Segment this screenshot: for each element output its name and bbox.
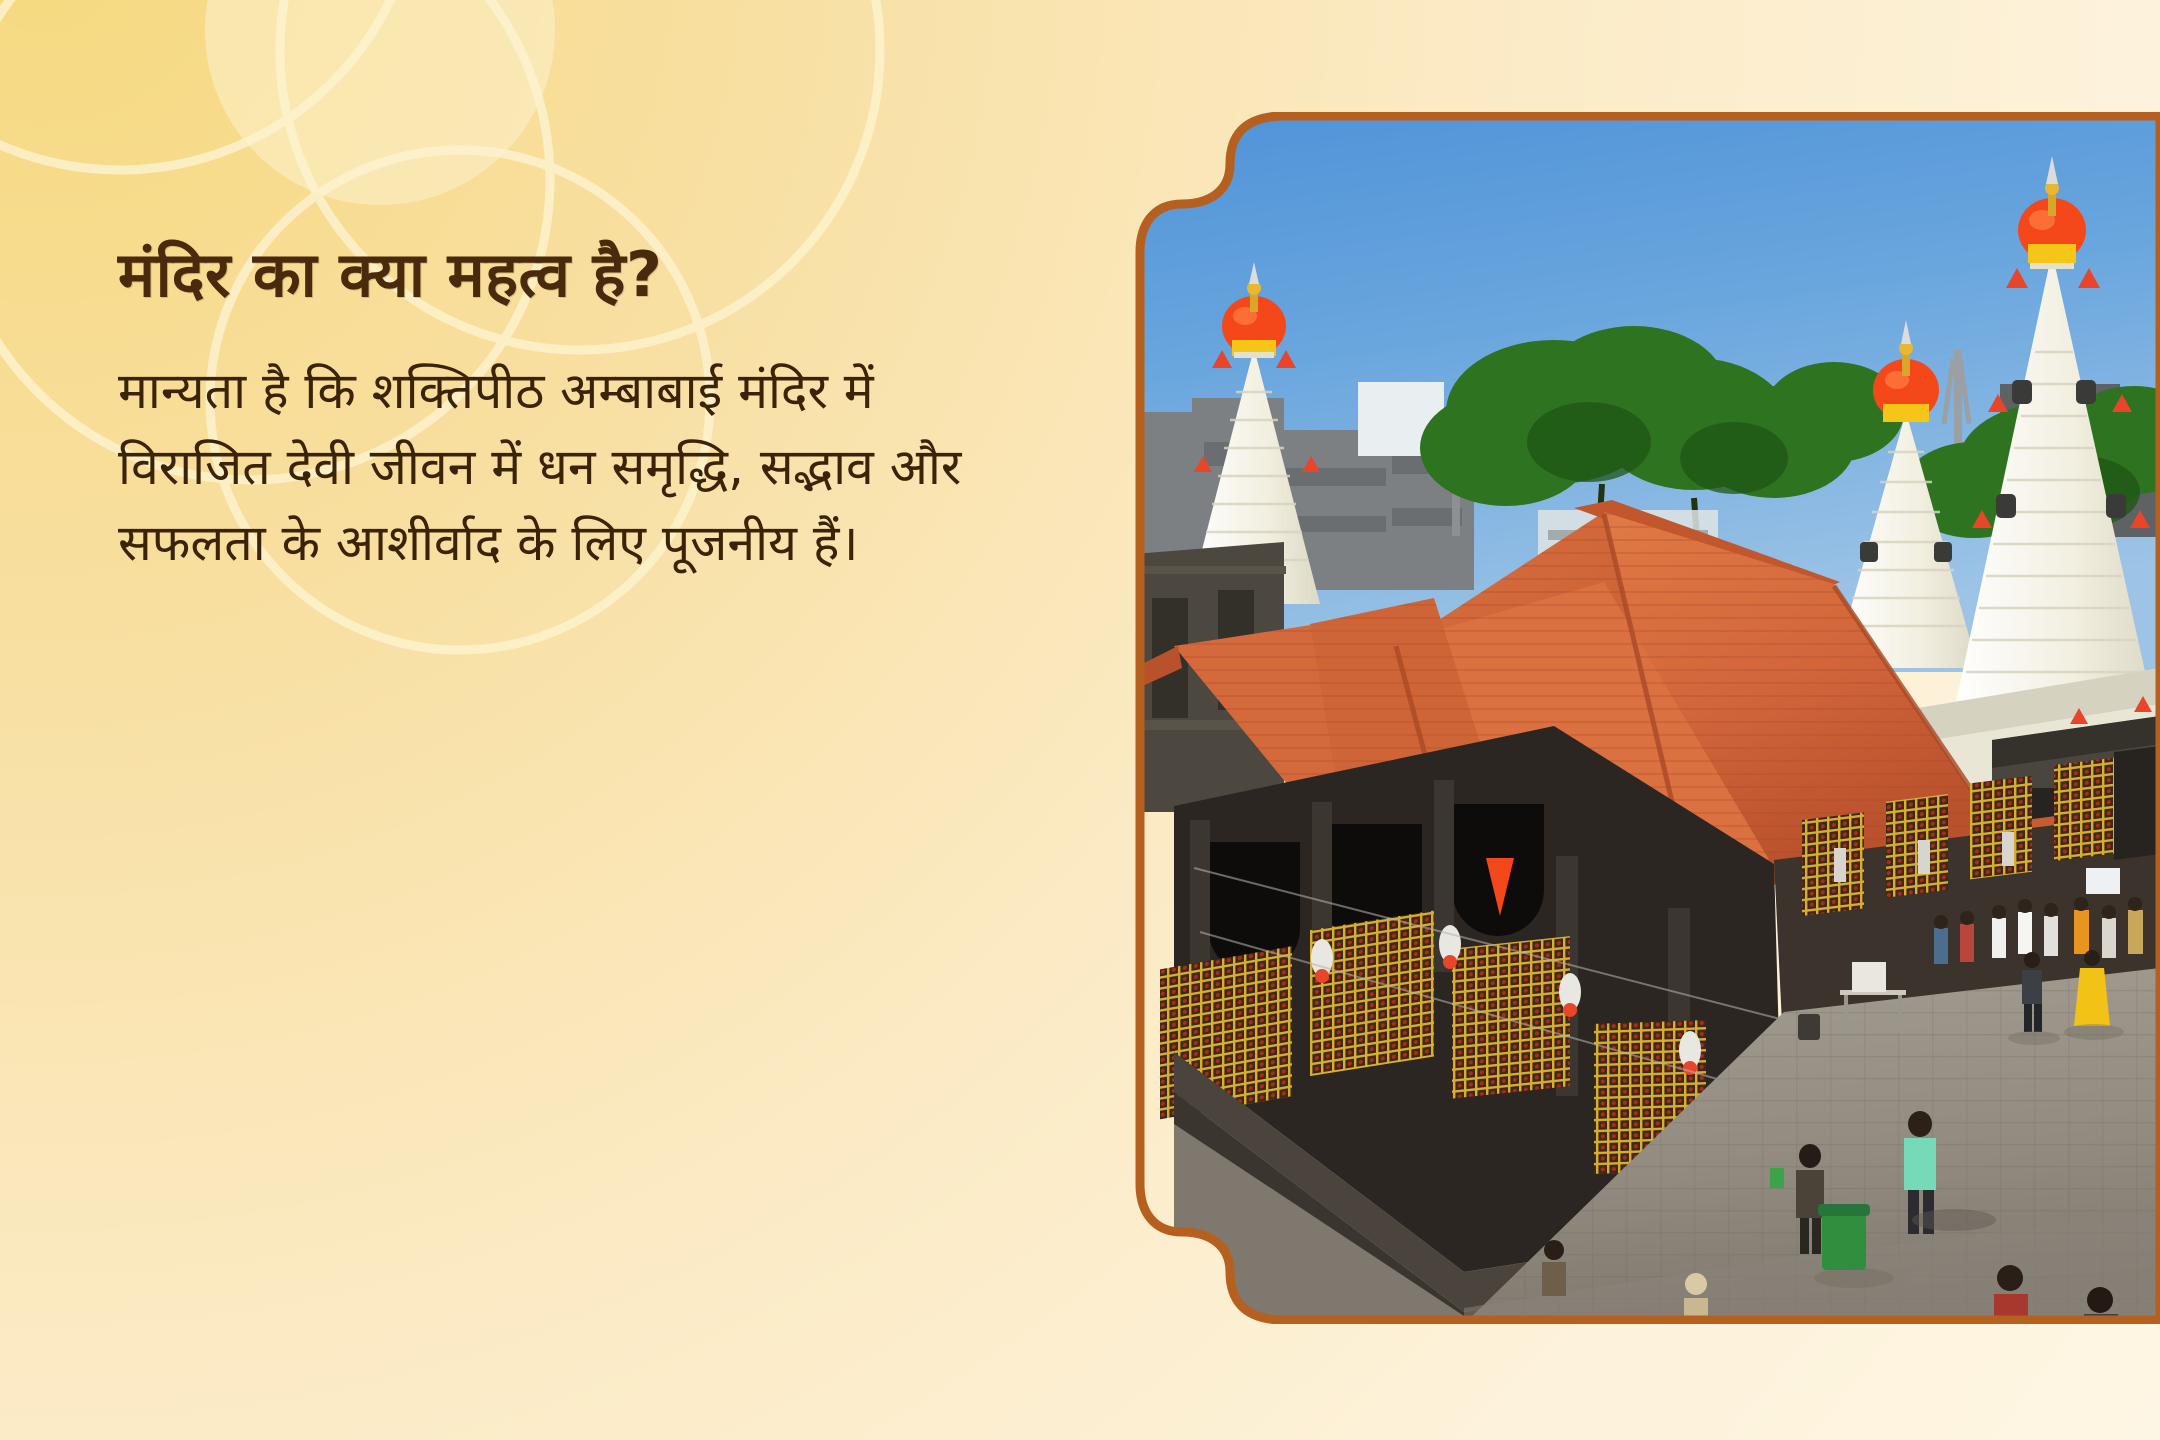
temple-photograph	[1134, 112, 2160, 1324]
temple-photo-frame	[1134, 112, 2160, 1324]
body-paragraph: मान्यता है कि शक्तिपीठ अम्बाबाई मंदिर मे…	[118, 353, 998, 581]
page-title: मंदिर का क्या महत्व है?	[118, 238, 1018, 311]
text-column: मंदिर का क्या महत्व है? मान्यता है कि शक…	[118, 238, 1018, 581]
